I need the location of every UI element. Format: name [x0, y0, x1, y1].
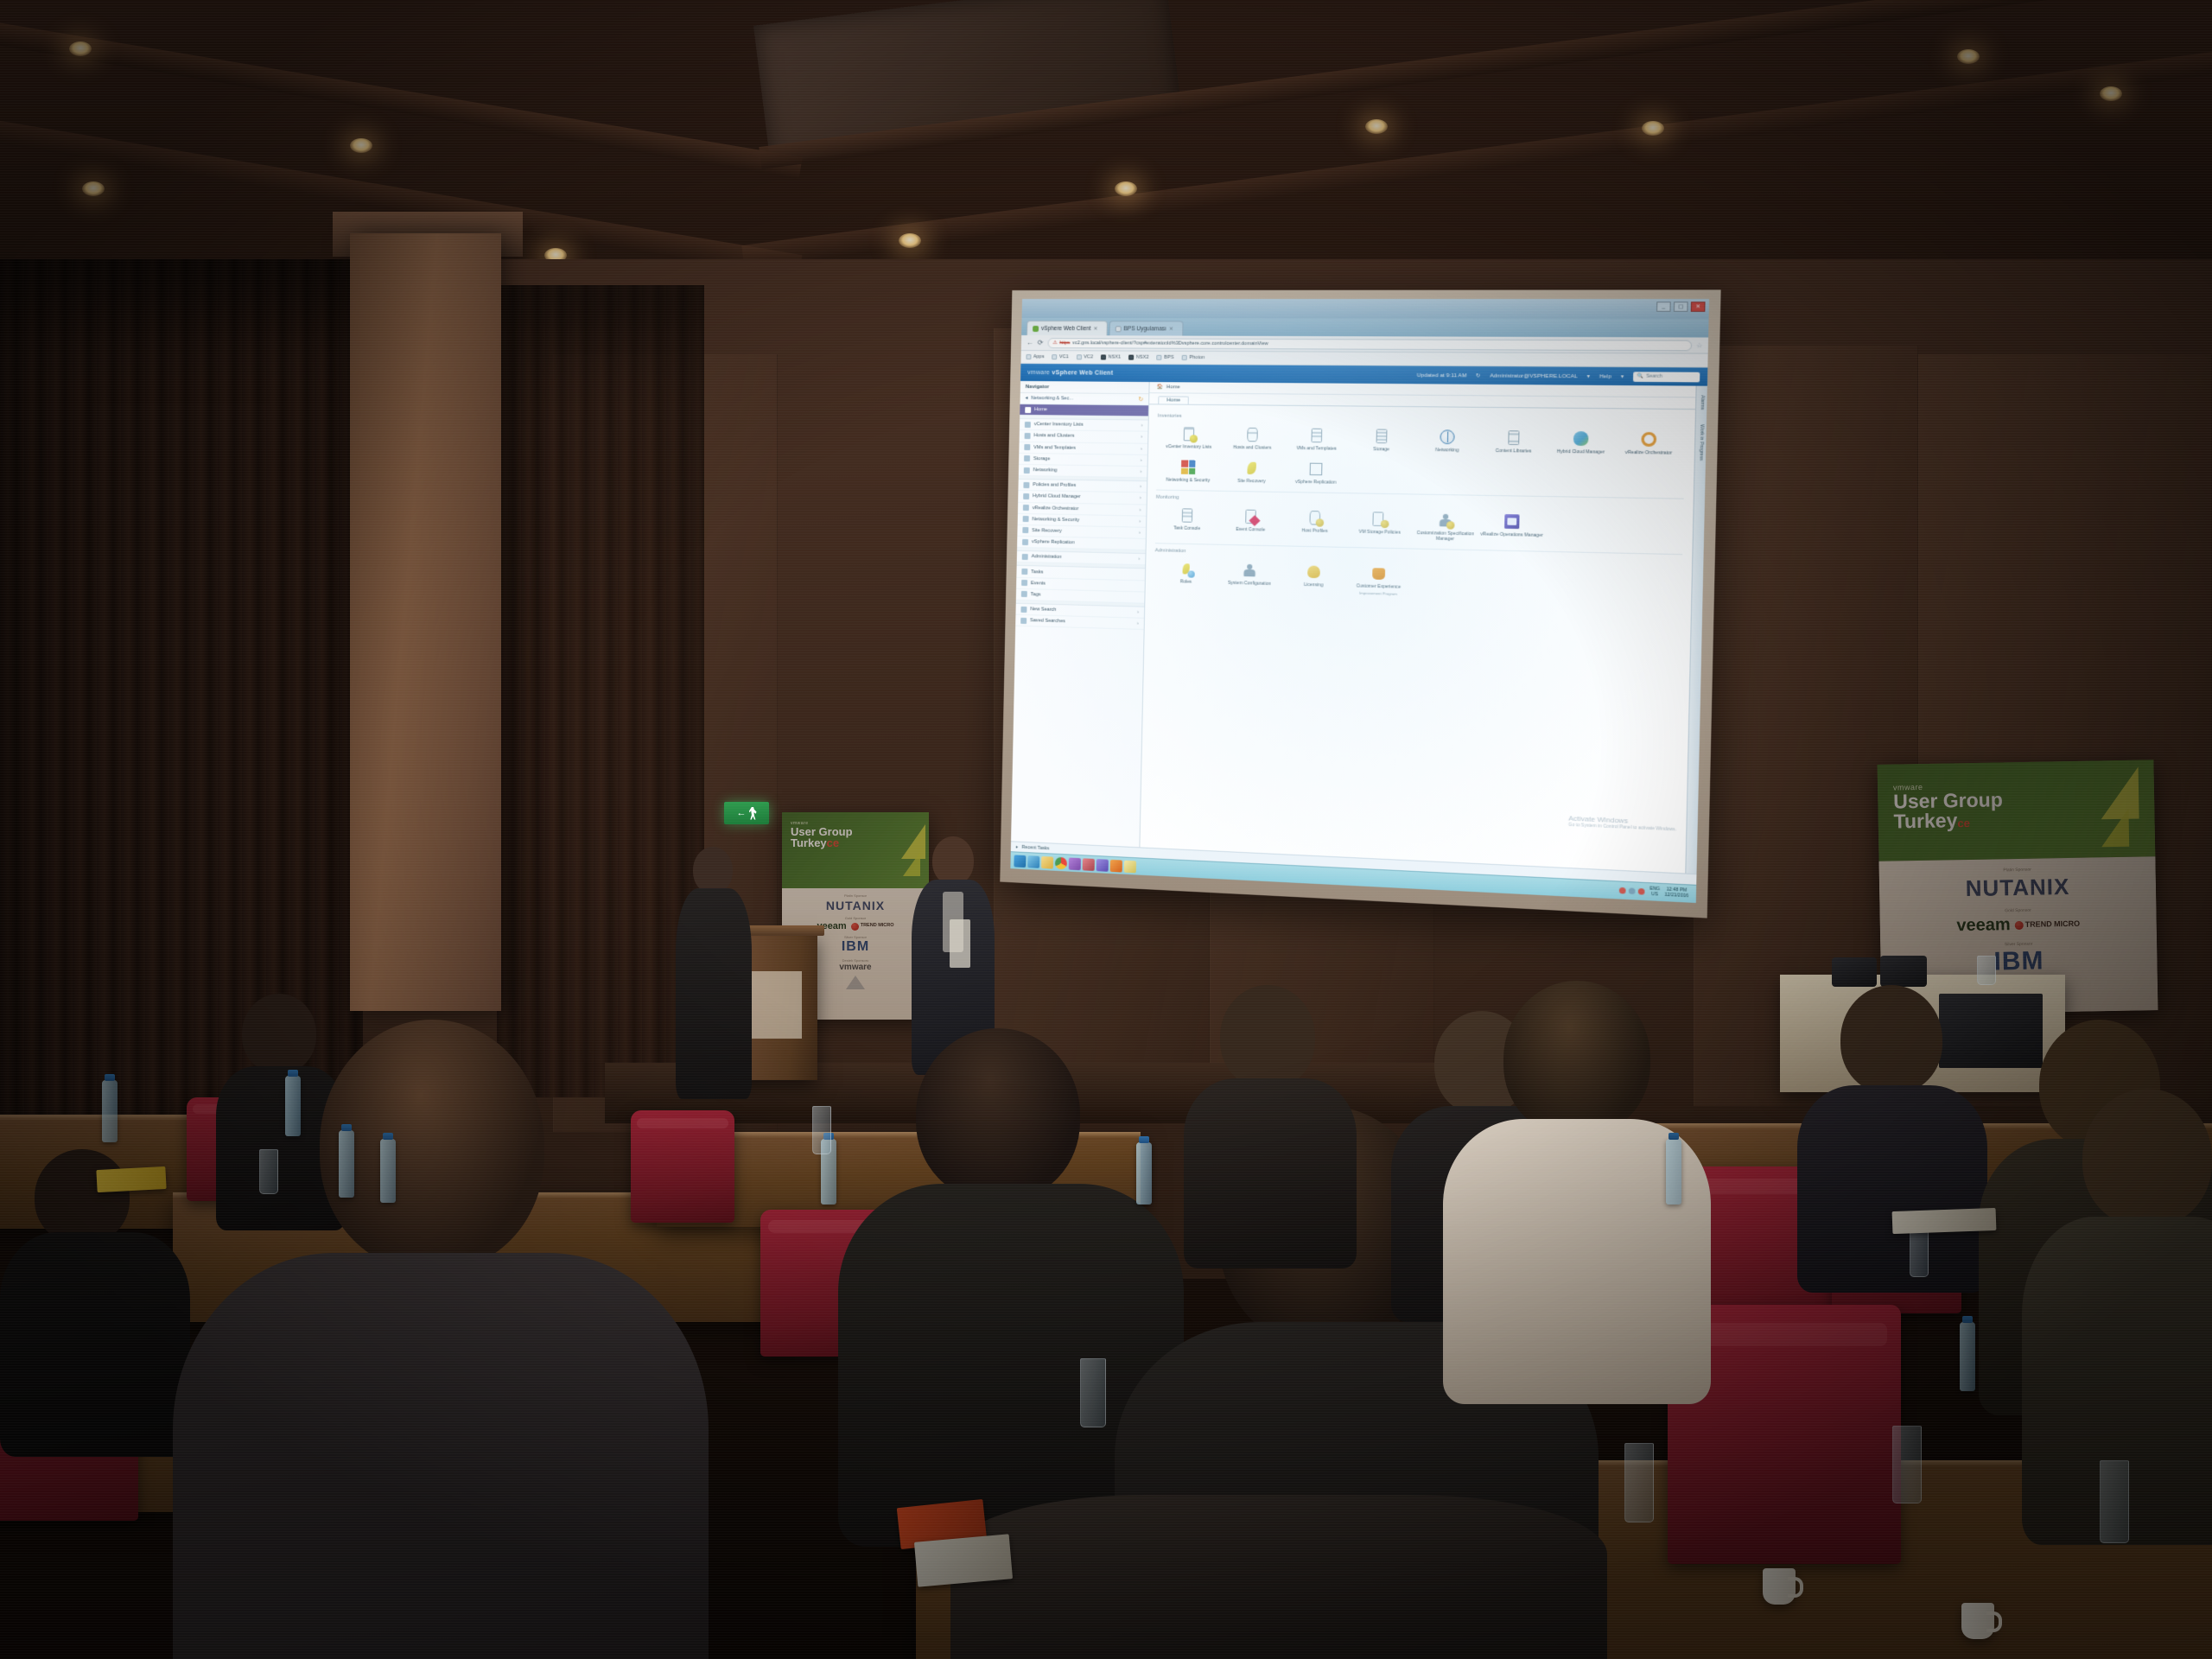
audience-member: [1192, 985, 1348, 1236]
refresh-icon[interactable]: ↻: [1476, 372, 1481, 378]
nav-item-label: Events: [1031, 581, 1046, 586]
tile-vm-storage-policies[interactable]: VM Storage Policies: [1347, 506, 1413, 545]
sponsor-trendmicro: TREND MICRO: [2015, 919, 2081, 929]
tile-label: VMs and Templates: [1296, 446, 1336, 452]
drinking-glass: [1910, 1227, 1929, 1277]
sponsor-logo-icon: [846, 976, 865, 989]
reload-icon[interactable]: ⟳: [1038, 339, 1044, 346]
rail-alarms[interactable]: Alarms: [1699, 395, 1705, 410]
tile-networking[interactable]: Networking: [1414, 424, 1480, 457]
address-bar[interactable]: ⚠ https vc2.gns.local/vsphere-client/?cs…: [1047, 338, 1692, 351]
audience-member-foreground: [950, 1460, 1607, 1659]
person-body: [1797, 1085, 1987, 1293]
user-menu[interactable]: Administrator@VSPHERE.LOCAL: [1490, 372, 1578, 379]
ceiling-downlight: [2100, 86, 2122, 101]
nav-item-icon: [1023, 493, 1029, 499]
water-bottle: [102, 1080, 118, 1142]
person-head: [35, 1149, 130, 1244]
ceip-icon: [1370, 564, 1388, 582]
event-console-icon: [1242, 508, 1260, 526]
nav-item-label: Home: [1034, 407, 1047, 412]
nav-item-icon: [1023, 516, 1029, 522]
tile-storage[interactable]: Storage: [1349, 423, 1414, 456]
url-text: vc2.gns.local/vsphere-client/?csp#extens…: [1072, 340, 1268, 346]
task-console-icon: [1179, 506, 1197, 524]
water-bottle: [1960, 1322, 1975, 1391]
water-bottle: [285, 1076, 301, 1136]
host-profiles-icon: [1306, 509, 1324, 527]
expand-icon[interactable]: ▸: [1016, 844, 1019, 849]
chevron-right-icon[interactable]: ›: [1137, 621, 1139, 626]
drinking-glass: [259, 1149, 278, 1194]
recent-tasks-label: Recent Tasks: [1021, 844, 1049, 851]
chrome-icon[interactable]: [1055, 856, 1067, 869]
tile-customer-experience[interactable]: Customer ExperienceImprovement Program: [1345, 560, 1412, 600]
inventory-list-icon: [1180, 425, 1198, 443]
person-body: [676, 888, 752, 1099]
ceiling-downlight: [1957, 49, 1980, 64]
tile-label: Customization Specification Manager: [1414, 531, 1476, 543]
app-icon[interactable]: [1083, 858, 1095, 871]
action-center-icon[interactable]: [1638, 888, 1645, 895]
nav-item-label: Tags: [1031, 592, 1041, 597]
tile-content-libraries[interactable]: Content Libraries: [1480, 425, 1548, 458]
ceiling-downlight: [1365, 119, 1388, 134]
vrops-icon: [1503, 512, 1522, 531]
licensing-icon: [1305, 563, 1323, 581]
projection-screen: _ ▢ ✕ vSphere Web Client ✕ BPS Uygulamas…: [1010, 299, 1709, 903]
vmug-logo-icon: [2101, 809, 2129, 848]
ceiling-downlight: [1642, 121, 1664, 136]
bag-on-table: [1880, 956, 1927, 987]
tile-customization-specification-manager[interactable]: Customization Specification Manager: [1412, 507, 1478, 546]
nav-item-label: vSphere Replication: [1032, 539, 1075, 545]
firefox-icon[interactable]: [1110, 859, 1122, 872]
tile-vrealize-operations-manager[interactable]: vRealize Operations Manager: [1478, 508, 1546, 547]
person-body: [0, 1232, 190, 1457]
paper-sheet: [1892, 1208, 1997, 1234]
person-head: [2082, 1089, 2212, 1227]
bookmark-label: BPS: [1164, 355, 1173, 360]
tile-system-configuration[interactable]: System Configuration: [1217, 557, 1282, 597]
tile-vcenter-inventory-lists[interactable]: vCenter Inventory Lists: [1157, 422, 1221, 454]
chevron-right-icon[interactable]: ›: [1139, 518, 1141, 524]
rail-work-in-progress[interactable]: Work in Progress: [1698, 424, 1705, 461]
tile-label: Hosts and Clusters: [1233, 445, 1271, 451]
bookmark-label: Photon: [1189, 355, 1205, 360]
apps-label: Apps: [1033, 354, 1045, 359]
site-recovery-icon: [1243, 459, 1261, 477]
nsx-quad-icon: [1179, 458, 1198, 476]
tile-task-console[interactable]: Task Console: [1155, 503, 1219, 541]
tile-label: Event Console: [1236, 527, 1265, 533]
app-icon[interactable]: [1096, 859, 1109, 872]
apps-shortcut[interactable]: Apps: [1026, 354, 1044, 359]
star-icon[interactable]: ☆: [1696, 341, 1702, 349]
lanyard-badge: [950, 919, 970, 968]
help-menu-chevron-down-icon[interactable]: ▾: [1621, 373, 1624, 379]
nav-item-icon: [1025, 407, 1031, 413]
bookmark-icon: [1101, 354, 1106, 359]
nav-item-icon: [1020, 618, 1027, 624]
chevron-right-icon[interactable]: ›: [1141, 458, 1142, 463]
tab-label: vSphere Web Client: [1041, 326, 1090, 332]
screen-surface: _ ▢ ✕ vSphere Web Client ✕ BPS Uygulamas…: [1010, 299, 1709, 903]
nav-item-label: Policies and Profiles: [1033, 482, 1076, 488]
nav-item-icon: [1023, 482, 1029, 488]
nav-item-icon: [1022, 554, 1028, 560]
page-favicon: [1115, 326, 1121, 332]
nav-item-label: Tasks: [1031, 569, 1043, 575]
network-icon[interactable]: [1619, 887, 1626, 894]
bookmark-icon: [1077, 354, 1082, 359]
person-head: [1840, 985, 1942, 1094]
sponsor-nutanix: NUTANIX: [785, 899, 925, 912]
hosts-clusters-icon: [1243, 426, 1262, 444]
conference-room-scene: _ ▢ ✕ vSphere Web Client ✕ BPS Uygulamas…: [0, 0, 2212, 1659]
tile-grid: vCenter Inventory ListsHosts and Cluster…: [1156, 422, 1685, 495]
tile-networking-security[interactable]: Networking & Security: [1156, 454, 1220, 487]
tile-vsphere-replication[interactable]: vSphere Replication: [1283, 456, 1349, 489]
exit-arrow-icon: ←: [737, 809, 747, 818]
url-scheme: https: [1059, 340, 1070, 346]
nav-item-icon: [1021, 569, 1027, 575]
tab-vsphere-web-client[interactable]: vSphere Web Client ✕: [1027, 321, 1108, 335]
navigator-panel: Navigator ◂ Networking & Sec... ↻ HomevC…: [1011, 381, 1150, 847]
help-menu[interactable]: Help: [1599, 373, 1611, 379]
tile-label: Site Recovery: [1237, 479, 1266, 485]
breadcrumb-label: Home: [1166, 385, 1180, 390]
chevron-right-icon[interactable]: ›: [1141, 446, 1142, 451]
navigator-list[interactable]: HomevCenter Inventory Lists›Hosts and Cl…: [1015, 404, 1148, 630]
water-bottle: [339, 1130, 354, 1198]
tile-vms-and-templates[interactable]: VMs and Templates: [1284, 423, 1350, 455]
nav-item-label: VMs and Templates: [1033, 445, 1076, 451]
coffee-cup: [1961, 1603, 1994, 1639]
tile-label: VM Storage Policies: [1359, 530, 1401, 536]
audience-member: [0, 1149, 190, 1443]
person-body: [173, 1253, 709, 1659]
nav-item-label: Administration: [1032, 555, 1062, 561]
chevron-right-icon[interactable]: ›: [1140, 496, 1141, 501]
tile-label: vSphere Replication: [1295, 480, 1336, 486]
back-icon[interactable]: ←: [1027, 339, 1033, 346]
system-config-icon: [1241, 562, 1259, 580]
keyboard-layout: US: [1651, 891, 1658, 897]
nav-item-icon: [1021, 580, 1027, 586]
vsphere-body: Navigator ◂ Networking & Sec... ↻ HomevC…: [1011, 381, 1707, 874]
user-menu-chevron-down-icon[interactable]: ▾: [1587, 373, 1591, 379]
tile-licensing[interactable]: Licensing: [1281, 559, 1347, 599]
browser-tabstrip[interactable]: vSphere Web Client ✕ BPS Uygulaması ✕: [1021, 318, 1708, 338]
start-icon[interactable]: [1014, 855, 1026, 868]
banner-header-right: vmware User Group Turkeyce: [1877, 760, 2155, 861]
nav-item-icon: [1020, 606, 1027, 612]
tile-label: vRealize Orchestrator: [1625, 450, 1672, 456]
ceiling-downlight: [82, 181, 105, 196]
maximize-button[interactable]: ▢: [1674, 302, 1688, 312]
tile-label: Customer Experience: [1357, 583, 1402, 589]
banner-suffix: ce: [1957, 817, 1970, 829]
search-input[interactable]: 🔍 Search: [1633, 372, 1700, 382]
nav-item-label: vRealize Orchestrator: [1033, 505, 1079, 512]
water-bottle: [1136, 1142, 1152, 1205]
bookmark-nsx2[interactable]: NSX2: [1128, 355, 1148, 360]
tab-home[interactable]: Home: [1158, 396, 1189, 404]
sponsor-caption: Platin Sponsor: [785, 893, 925, 898]
nav-item-icon: [1025, 433, 1031, 439]
refresh-icon[interactable]: ↻: [1138, 396, 1143, 403]
sponsor-trendmicro: TREND MICRO: [851, 923, 894, 931]
sponsor-nutanix: NUTANIX: [1888, 872, 2147, 903]
bookmark-label: VC1: [1059, 354, 1069, 359]
person-head: [932, 836, 974, 885]
tile-event-console[interactable]: Event Console: [1218, 504, 1283, 542]
navigator-title: Navigator: [1020, 381, 1149, 394]
chevron-right-icon[interactable]: ›: [1137, 610, 1139, 615]
ceiling-downlight: [69, 41, 92, 56]
tile-label: Content Libraries: [1496, 448, 1532, 454]
nav-item-label: Storage: [1033, 456, 1051, 461]
tab-label: BPS Uygulaması: [1123, 326, 1166, 332]
ie-icon[interactable]: [1027, 855, 1039, 868]
chevron-right-icon[interactable]: ›: [1141, 435, 1142, 440]
bookmark-label: VC2: [1084, 354, 1093, 359]
nav-item-icon: [1025, 422, 1031, 428]
nav-item-networking[interactable]: Networking›: [1019, 465, 1147, 478]
tile-sublabel: Improvement Program: [1359, 591, 1397, 596]
tab-bps-uygulamasi[interactable]: BPS Uygulaması ✕: [1109, 321, 1183, 335]
running-man-icon: [749, 807, 757, 820]
bookmark-vc2[interactable]: VC2: [1077, 354, 1093, 359]
bookmark-label: NSX1: [1108, 354, 1121, 359]
minimize-button[interactable]: _: [1656, 302, 1671, 312]
speaker-at-podium: [674, 847, 753, 1097]
exit-sign: ←: [724, 802, 769, 824]
tile-label: System Configuration: [1228, 581, 1271, 587]
home-icon: 🏠: [1157, 385, 1163, 390]
tile-label: Storage: [1373, 447, 1389, 452]
tile-label: Networking: [1435, 448, 1459, 454]
drinking-glass: [812, 1106, 831, 1154]
tile-label: Task Console: [1173, 525, 1200, 531]
ceiling-downlight: [1115, 181, 1137, 196]
person-body: [1184, 1078, 1357, 1268]
nav-item-icon: [1021, 591, 1027, 597]
roles-icon: [1177, 560, 1195, 578]
audience-member-foreground: [285, 1020, 570, 1659]
app-icon[interactable]: [1069, 857, 1081, 870]
nav-item-label: vCenter Inventory Lists: [1034, 422, 1084, 428]
replication-cube-icon: [1306, 461, 1325, 479]
chevron-right-icon[interactable]: ›: [1138, 556, 1140, 562]
bookmark-icon: [1157, 355, 1162, 360]
vm-storage-policies-icon: [1370, 510, 1389, 528]
banner-suffix: ce: [827, 836, 839, 849]
nav-item-icon: [1024, 467, 1030, 474]
tile-hosts-and-clusters[interactable]: Hosts and Clusters: [1220, 422, 1285, 454]
customization-spec-icon: [1436, 512, 1455, 530]
search-placeholder: Search: [1646, 373, 1662, 378]
hybrid-cloud-icon: [1572, 429, 1591, 448]
chevron-right-icon[interactable]: ›: [1141, 423, 1142, 429]
nav-item-icon: [1024, 444, 1030, 450]
tile-host-profiles[interactable]: Host Profiles: [1282, 505, 1348, 543]
tile-hybrid-cloud-manager[interactable]: Hybrid Cloud Manager: [1547, 425, 1615, 459]
tile-label: Licensing: [1304, 582, 1323, 588]
tab-close-icon[interactable]: ✕: [1093, 326, 1097, 332]
orchestrator-ring-icon: [1639, 430, 1658, 448]
person-head: [693, 847, 733, 893]
ceiling-downlight: [350, 138, 372, 153]
drinking-glass: [1624, 1443, 1654, 1522]
updated-at-label: Updated at 9:11 AM: [1417, 372, 1467, 378]
product-name: vSphere Web Client: [1052, 370, 1113, 376]
bookmark-photon[interactable]: Photon: [1182, 355, 1205, 360]
tile-grid: Task ConsoleEvent ConsoleHost ProfilesVM…: [1155, 503, 1683, 550]
person-body: [950, 1495, 1607, 1659]
system-tray[interactable]: ENG US 12:48 PM 12/21/2016: [1619, 885, 1693, 899]
sponsor-veeam: veeam: [1956, 915, 2011, 936]
nav-item-label: Site Recovery: [1032, 528, 1062, 534]
chair: [631, 1110, 734, 1223]
bookmark-icon: [1182, 355, 1187, 360]
content-panel: 🏠 Home Home InventoriesvCenter Inventory…: [1140, 382, 1695, 873]
bookmark-vc1[interactable]: VC1: [1052, 354, 1068, 359]
sponsor-ibm: IBM: [1889, 944, 2149, 978]
wall-column: [350, 233, 501, 1011]
bag-on-table: [1832, 957, 1877, 987]
nav-item-label: Hybrid Cloud Manager: [1033, 494, 1081, 500]
nav-item-icon: [1022, 527, 1028, 533]
chevron-right-icon[interactable]: ›: [1139, 531, 1141, 536]
browser-window: _ ▢ ✕ vSphere Web Client ✕ BPS Uygulamas…: [1010, 299, 1709, 903]
not-secure-icon: ⚠: [1052, 340, 1057, 346]
audience-member: [864, 1028, 1149, 1478]
tools-icon[interactable]: [1124, 860, 1136, 873]
apps-grid-icon: [1026, 354, 1031, 359]
tile-site-recovery[interactable]: Site Recovery: [1219, 455, 1284, 488]
nav-item-saved-searches[interactable]: Saved Searches›: [1015, 615, 1144, 630]
window-controls[interactable]: _ ▢ ✕: [1656, 302, 1706, 312]
volume-icon[interactable]: [1629, 887, 1636, 894]
browser-titlebar: _ ▢ ✕: [1022, 299, 1710, 319]
audience-member: [2022, 1089, 2212, 1521]
tab-close-icon[interactable]: ✕: [1169, 326, 1173, 332]
drinking-glass: [1892, 1426, 1922, 1503]
back-chevron-icon: ◂: [1025, 396, 1027, 401]
search-icon: 🔍: [1637, 373, 1643, 378]
vmware-wordmark: vmware: [1027, 370, 1050, 376]
tile-vrealize-orchestrator[interactable]: vRealize Orchestrator: [1614, 426, 1683, 460]
banner-header-left: vmware User Group Turkeyce: [782, 812, 929, 888]
networking-globe-icon: [1438, 428, 1457, 446]
nav-item-label: Networking: [1033, 467, 1058, 473]
water-bottle: [380, 1139, 396, 1203]
person-head: [1220, 985, 1315, 1089]
nav-item-label: Saved Searches: [1030, 618, 1065, 624]
content-library-icon: [1504, 429, 1523, 447]
ceiling-downlight: [899, 233, 921, 248]
tile-label: Networking & Security: [1166, 478, 1210, 484]
navigator-back-label: Networking & Sec...: [1031, 396, 1073, 401]
sponsor-caption: Gold Sponsor: [785, 916, 925, 920]
bookmark-bps[interactable]: BPS: [1157, 355, 1174, 360]
bookmark-icon: [1052, 354, 1057, 359]
vsphere-favicon: [1033, 326, 1039, 332]
tile-roles[interactable]: Roles: [1154, 556, 1218, 594]
vsphere-web-client-app: vmware vSphere Web Client Updated at 9:1…: [1011, 364, 1708, 885]
drinking-glass: [1080, 1358, 1106, 1427]
bookmark-icon: [1128, 355, 1134, 360]
language-indicator[interactable]: ENG US: [1649, 887, 1660, 898]
tile-label: Roles: [1180, 579, 1192, 584]
nav-item-icon: [1023, 505, 1029, 511]
tile-label: vRealize Operations Manager: [1480, 531, 1542, 538]
chevron-right-icon[interactable]: ›: [1140, 484, 1141, 489]
nav-item-home[interactable]: Home: [1020, 404, 1148, 417]
vsphere-brand: vmware vSphere Web Client: [1027, 370, 1113, 377]
home-sections: InventoriesvCenter Inventory ListsHosts …: [1140, 404, 1695, 873]
chevron-right-icon[interactable]: ›: [1139, 507, 1141, 512]
taskbar-clock[interactable]: 12:48 PM 12/21/2016: [1664, 887, 1688, 899]
close-button[interactable]: ✕: [1691, 302, 1706, 312]
nav-item-icon: [1024, 455, 1030, 461]
nav-item-label: New Search: [1030, 607, 1056, 613]
clock-date: 12/21/2016: [1664, 892, 1688, 899]
bookmark-nsx1[interactable]: NSX1: [1101, 354, 1121, 359]
drinking-glass: [2100, 1460, 2129, 1543]
window-curtain-mid: [497, 285, 704, 1097]
nav-item-label: Networking & Security: [1032, 517, 1079, 523]
bookmark-label: NSX2: [1136, 355, 1149, 360]
water-bottle: [1666, 1139, 1681, 1205]
storage-icon: [1372, 427, 1390, 445]
chevron-right-icon[interactable]: ›: [1140, 469, 1141, 474]
vm-templates-icon: [1307, 427, 1325, 445]
person-head: [916, 1028, 1080, 1201]
nav-item-icon: [1022, 539, 1028, 545]
tile-label: Host Profiles: [1301, 528, 1327, 534]
person-head: [1503, 981, 1650, 1136]
tile-label: vCenter Inventory Lists: [1166, 444, 1211, 450]
coffee-cup: [1763, 1568, 1796, 1605]
paper-sheet: [914, 1534, 1013, 1586]
notepad: [96, 1166, 166, 1192]
glass: [1977, 956, 1996, 985]
tile-label: Hybrid Cloud Manager: [1557, 449, 1605, 455]
tile-grid: RolesSystem ConfigurationLicensingCustom…: [1154, 556, 1682, 607]
tray-icons[interactable]: [1619, 887, 1645, 895]
nav-item-label: Hosts and Clusters: [1033, 434, 1074, 440]
explorer-icon[interactable]: [1041, 855, 1053, 868]
